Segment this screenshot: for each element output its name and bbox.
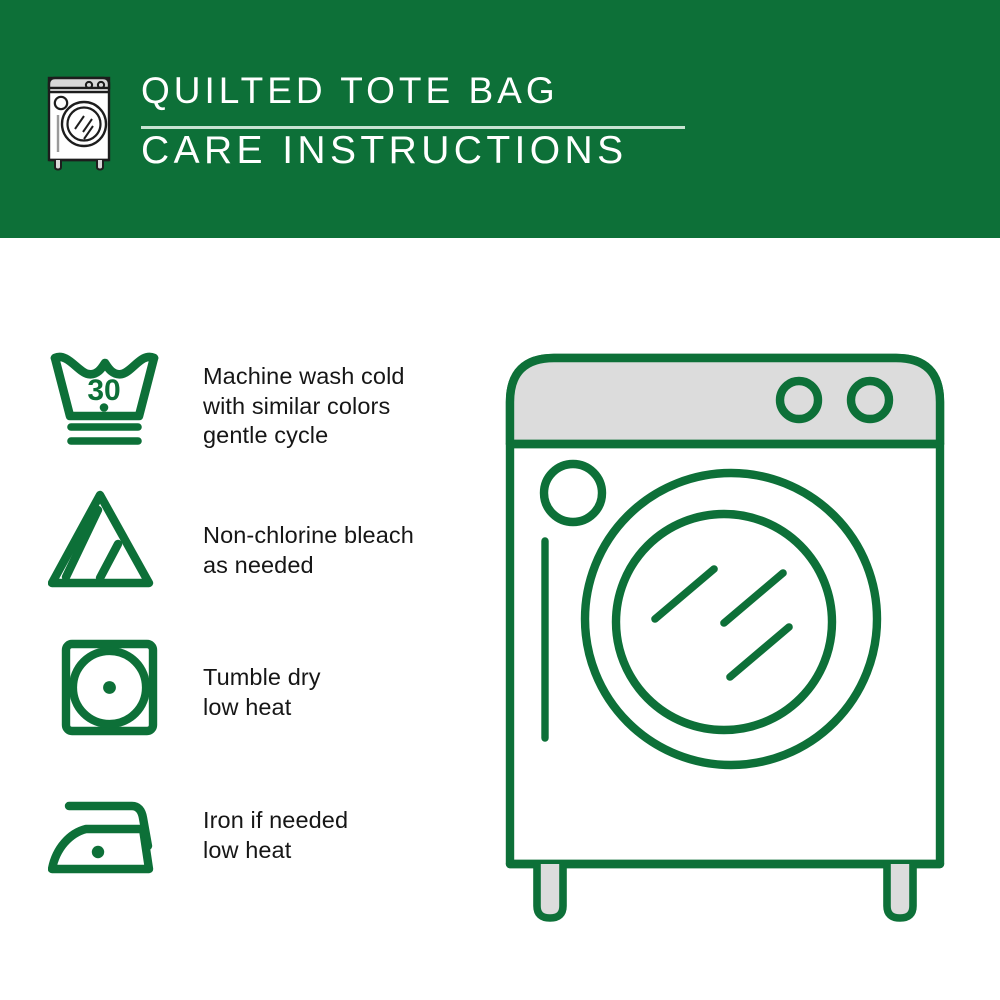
leg-left — [537, 864, 563, 918]
iron-low-heat-icon — [48, 786, 160, 890]
leg-right — [887, 864, 913, 918]
list-item: Tumble dry low heat — [0, 636, 470, 740]
list-item-label: Machine wash cold with similar colors ge… — [203, 348, 470, 451]
list-item-label: Tumble dry low heat — [203, 636, 470, 722]
page-title-care: CARE INSTRUCTIONS — [141, 127, 741, 175]
header-banner: QUILTED TOTE BAG CARE INSTRUCTIONS — [0, 0, 1000, 238]
page-title-product: QUILTED TOTE BAG — [141, 68, 741, 114]
wash-temperature-value: 30 — [87, 374, 120, 407]
list-item: Iron if needed low heat — [0, 786, 470, 890]
list-item-label: Iron if needed low heat — [203, 786, 470, 865]
non-chlorine-bleach-icon — [48, 488, 160, 592]
care-instructions-infographic: QUILTED TOTE BAG CARE INSTRUCTIONS — [0, 0, 1000, 1000]
care-instructions-list: 30 Machine wash cold with similar colors… — [0, 238, 470, 1000]
header-title-block: QUILTED TOTE BAG CARE INSTRUCTIONS — [141, 68, 741, 175]
list-item: Non-chlorine bleach as needed — [0, 488, 470, 592]
list-item: 30 Machine wash cold with similar colors… — [0, 348, 470, 452]
washing-machine-icon — [44, 66, 122, 172]
machine-wash-cold-gentle-icon: 30 — [48, 348, 160, 452]
list-item-label: Non-chlorine bleach as needed — [203, 488, 470, 580]
control-panel — [510, 358, 940, 444]
tumble-dry-low-heat-icon — [48, 636, 160, 740]
front-load-washing-machine-illustration — [492, 336, 962, 932]
title-divider — [141, 126, 685, 129]
